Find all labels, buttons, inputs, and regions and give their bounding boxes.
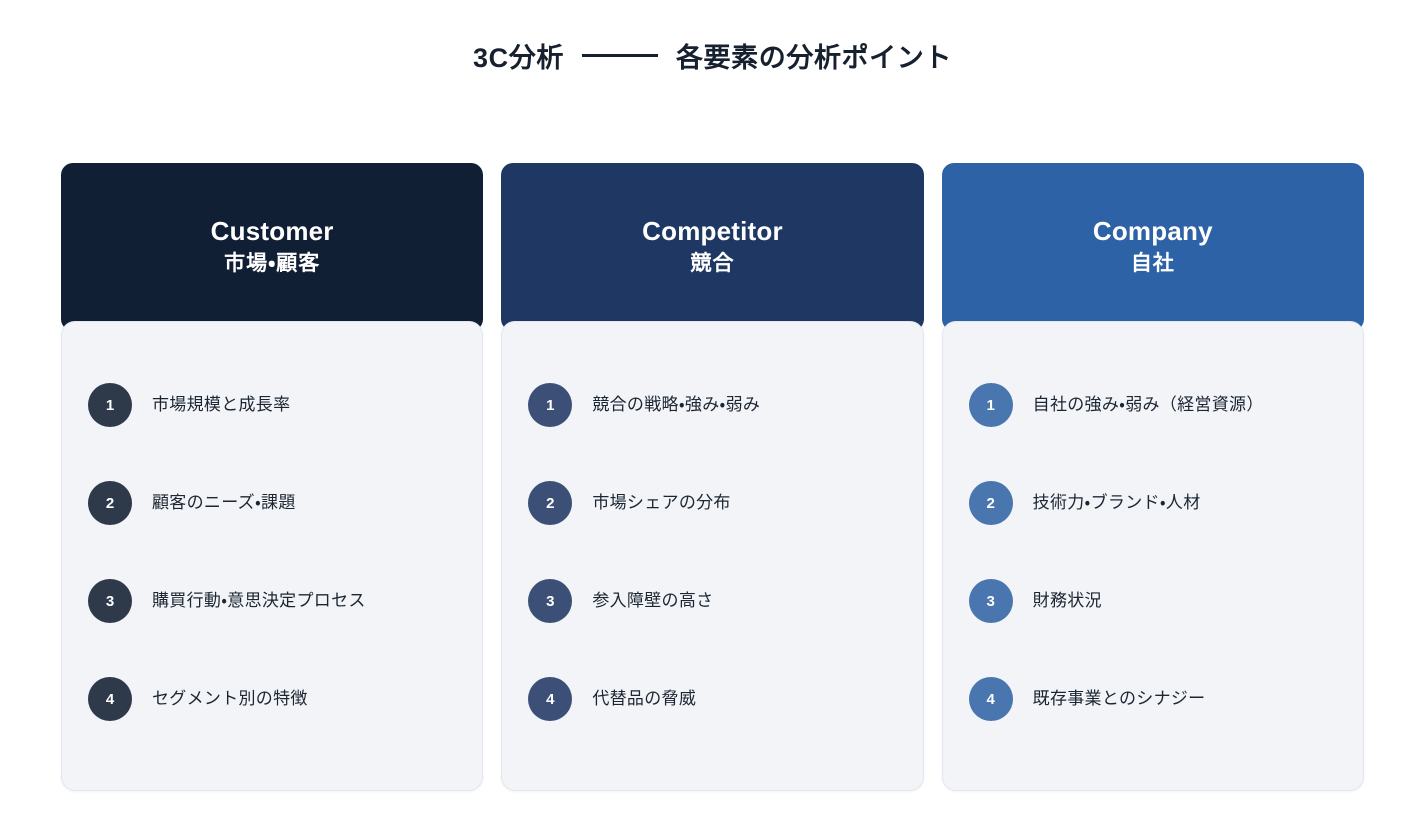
card-body-company: 1 自社の強み・弱み（経営資源） 2 技術力・ブランド・人材 3 財務状況 4 … [942, 321, 1364, 791]
item-label: 市場規模と成長率 [152, 394, 290, 417]
item-label: 技術力・ブランド・人材 [1033, 492, 1201, 515]
item-label: セグメント別の特徴 [152, 688, 308, 711]
item-label: 購買行動・意思決定プロセス [152, 590, 366, 613]
item-number-badge: 1 [528, 383, 572, 427]
card-header-customer-en: Customer [211, 217, 334, 247]
item-number-badge: 1 [88, 383, 132, 427]
list-item[interactable]: 2 顧客のニーズ・課題 [88, 454, 456, 552]
list-item[interactable]: 3 財務状況 [969, 552, 1337, 650]
item-number-badge: 4 [969, 677, 1013, 721]
item-label: 既存事業とのシナジー [1033, 688, 1206, 711]
column-competitor: Competitor 競合 1 競合の戦略・強み・弱み 2 市場シェアの分布 3… [501, 163, 923, 791]
list-item[interactable]: 1 自社の強み・弱み（経営資源） [969, 356, 1337, 454]
item-label: 競合の戦略・強み・弱み [592, 394, 760, 417]
item-label: 代替品の脅威 [592, 688, 696, 711]
item-number-badge: 3 [88, 579, 132, 623]
card-header-customer: Customer 市場・顧客 [61, 163, 483, 331]
column-customer: Customer 市場・顧客 1 市場規模と成長率 2 顧客のニーズ・課題 3 … [61, 163, 483, 791]
page-title-main: 3C分析 [473, 36, 564, 75]
page-title: 3C分析 各要素の分析ポイント [0, 36, 1425, 75]
item-number-badge: 2 [528, 481, 572, 525]
card-header-company: Company 自社 [942, 163, 1364, 331]
infographic-page: 3C分析 各要素の分析ポイント Customer 市場・顧客 1 市場規模と成長… [0, 0, 1425, 838]
list-item[interactable]: 4 既存事業とのシナジー [969, 650, 1337, 748]
title-separator-rule [582, 54, 658, 57]
card-header-competitor-ja: 競合 [690, 251, 734, 277]
card-header-customer-ja: 市場・顧客 [224, 251, 320, 277]
card-header-competitor-en: Competitor [642, 217, 783, 247]
columns-container: Customer 市場・顧客 1 市場規模と成長率 2 顧客のニーズ・課題 3 … [61, 163, 1364, 791]
item-label: 財務状況 [1033, 590, 1102, 613]
list-item[interactable]: 2 市場シェアの分布 [528, 454, 896, 552]
item-number-badge: 2 [88, 481, 132, 525]
list-item[interactable]: 1 競合の戦略・強み・弱み [528, 356, 896, 454]
item-label: 顧客のニーズ・課題 [152, 492, 296, 515]
list-item[interactable]: 4 セグメント別の特徴 [88, 650, 456, 748]
item-label: 参入障壁の高さ [592, 590, 713, 613]
card-header-company-ja: 自社 [1131, 251, 1175, 277]
item-number-badge: 4 [528, 677, 572, 721]
item-number-badge: 3 [969, 579, 1013, 623]
list-item[interactable]: 2 技術力・ブランド・人材 [969, 454, 1337, 552]
item-number-badge: 4 [88, 677, 132, 721]
card-header-company-en: Company [1093, 217, 1213, 247]
item-label: 自社の強み・弱み（経営資源） [1033, 394, 1264, 417]
list-item[interactable]: 3 購買行動・意思決定プロセス [88, 552, 456, 650]
list-item[interactable]: 4 代替品の脅威 [528, 650, 896, 748]
list-item[interactable]: 1 市場規模と成長率 [88, 356, 456, 454]
card-body-competitor: 1 競合の戦略・強み・弱み 2 市場シェアの分布 3 参入障壁の高さ 4 代替品… [501, 321, 923, 791]
item-number-badge: 1 [969, 383, 1013, 427]
list-item[interactable]: 3 参入障壁の高さ [528, 552, 896, 650]
item-label: 市場シェアの分布 [592, 492, 730, 515]
item-number-badge: 2 [969, 481, 1013, 525]
column-company: Company 自社 1 自社の強み・弱み（経営資源） 2 技術力・ブランド・人… [942, 163, 1364, 791]
item-number-badge: 3 [528, 579, 572, 623]
page-title-sub: 各要素の分析ポイント [676, 36, 952, 75]
card-body-customer: 1 市場規模と成長率 2 顧客のニーズ・課題 3 購買行動・意思決定プロセス 4… [61, 321, 483, 791]
card-header-competitor: Competitor 競合 [501, 163, 923, 331]
